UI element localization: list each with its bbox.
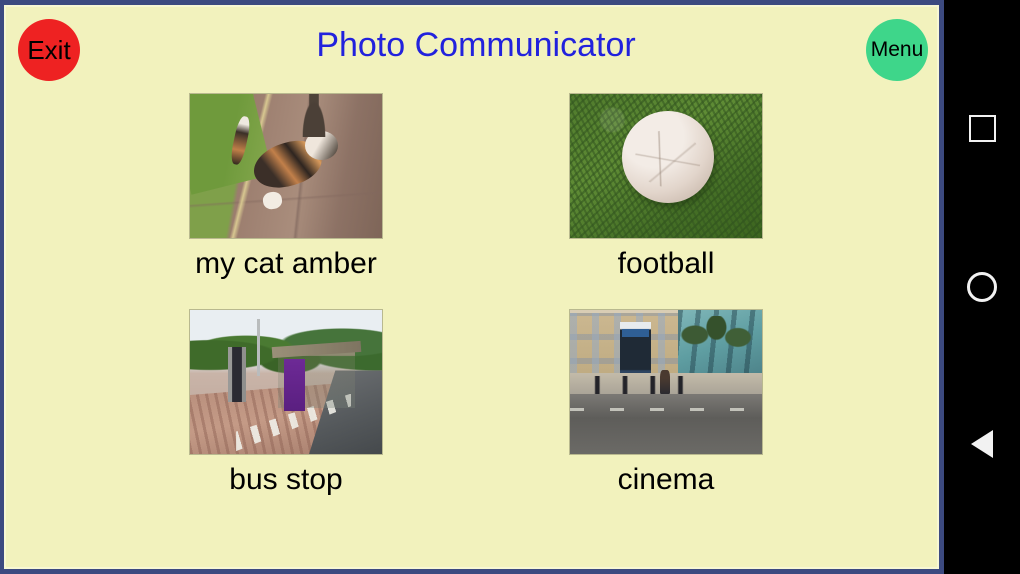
menu-button[interactable]: Menu	[866, 19, 928, 81]
home-button[interactable]	[944, 257, 1020, 317]
football-ball-shape	[622, 111, 714, 203]
bus-stop-purple-panel-shape	[284, 359, 305, 411]
photo-label: football	[618, 249, 715, 279]
photo-label: bus stop	[229, 465, 342, 495]
cinema-road-markings-shape	[570, 408, 762, 411]
back-button[interactable]	[944, 414, 1020, 474]
cinema-road-shape	[570, 394, 762, 454]
circle-icon	[967, 272, 997, 302]
photo-card-cinema[interactable]: cinema	[476, 309, 856, 495]
cinema-trees-shape	[681, 316, 758, 379]
photo-thumbnail-cinema[interactable]	[569, 309, 763, 455]
photo-label: cinema	[618, 465, 715, 495]
device-screen: Exit Photo Communicator Menu my cat ambe…	[0, 0, 1020, 574]
cat-paw-shape	[262, 190, 284, 210]
cat-head-shape	[305, 131, 338, 160]
photo-thumbnail-bus-stop[interactable]	[189, 309, 383, 455]
square-icon	[969, 115, 996, 142]
android-navigation-bar	[944, 0, 1020, 574]
triangle-left-icon	[971, 430, 993, 458]
photo-label: my cat amber	[195, 249, 377, 279]
photo-card-football[interactable]: football	[476, 93, 856, 279]
bus-stop-lamp-post-shape	[257, 319, 260, 377]
photo-grid: my cat amber football	[6, 93, 946, 525]
photo-thumbnail-cat[interactable]	[189, 93, 383, 239]
cinema-pedestrian-shape	[660, 370, 670, 393]
recents-button[interactable]	[944, 98, 1020, 158]
app-window: Exit Photo Communicator Menu my cat ambe…	[0, 0, 944, 574]
photo-card-my-cat-amber[interactable]: my cat amber	[96, 93, 476, 279]
app-content-area: Exit Photo Communicator Menu my cat ambe…	[4, 5, 939, 569]
page-title: Photo Communicator	[96, 26, 856, 65]
photo-thumbnail-football[interactable]	[569, 93, 763, 239]
exit-button[interactable]: Exit	[18, 19, 80, 81]
cat-tail-shape	[229, 115, 252, 166]
bus-stop-kiosk-shape	[228, 347, 245, 402]
photo-card-bus-stop[interactable]: bus stop	[96, 309, 476, 495]
